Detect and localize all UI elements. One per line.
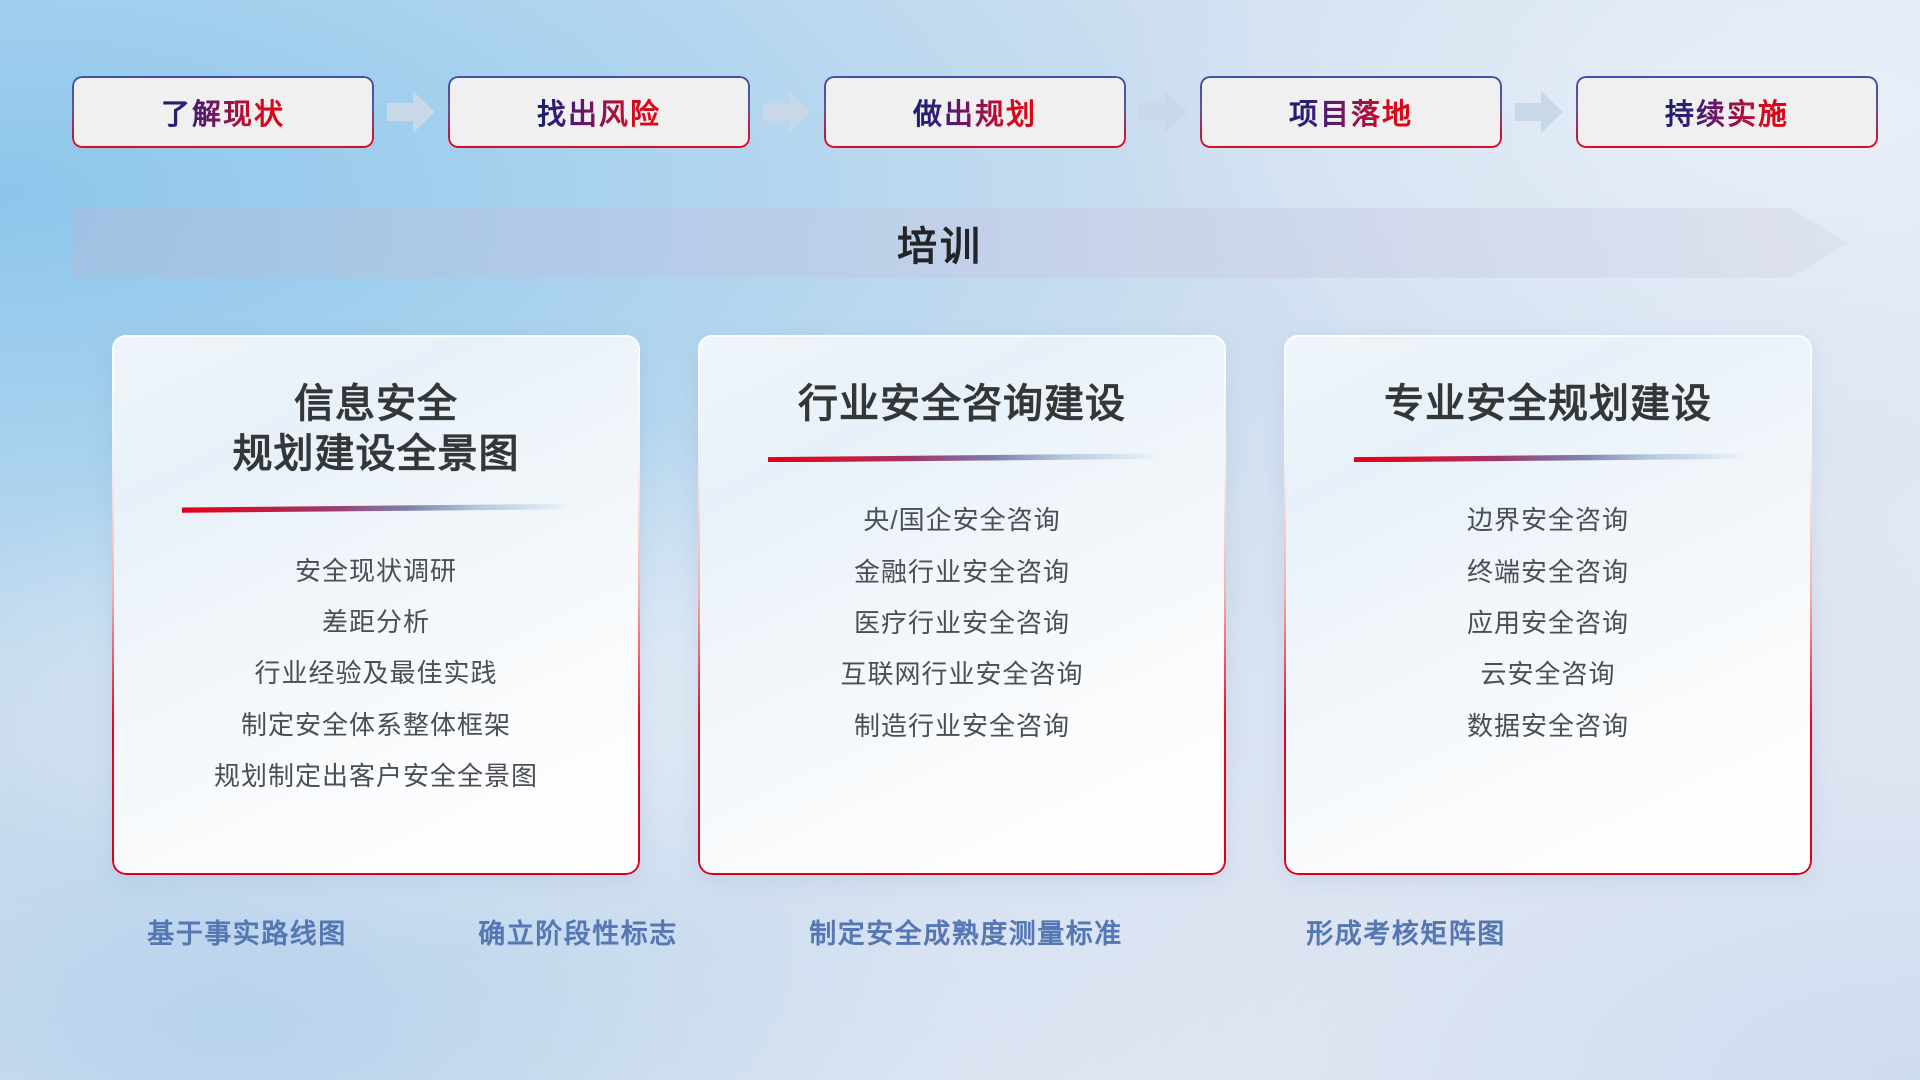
arrow-right-icon: [763, 91, 811, 133]
step-box-5[interactable]: 持续实施: [1576, 76, 1878, 148]
card-divider: [1354, 453, 1742, 462]
list-item: 央/国企安全咨询: [863, 500, 1060, 540]
step-box-1[interactable]: 了解现状: [72, 76, 374, 148]
card-professional-security-planning[interactable]: 专业安全规划建设 边界安全咨询 终端安全咨询 应用安全咨询 云安全咨询 数据安全…: [1284, 335, 1812, 875]
list-item: 行业经验及最佳实践: [254, 653, 497, 693]
step-label-3: 做出规划: [913, 91, 1037, 133]
list-item: 数据安全咨询: [1467, 706, 1629, 746]
footer-labels: 基于事实路线图 确立阶段性标志 制定安全成熟度测量标准 形成考核矩阵图: [0, 912, 1920, 966]
footer-label-2: 确立阶段性标志: [478, 912, 678, 951]
step-label-4: 项目落地: [1289, 91, 1413, 133]
list-item: 终端安全咨询: [1467, 552, 1629, 592]
list-item: 差距分析: [322, 602, 430, 642]
arrow-right-icon: [1515, 91, 1563, 133]
list-item: 金融行业安全咨询: [854, 552, 1070, 592]
training-band: 培训: [72, 208, 1848, 278]
card-industry-security-consulting[interactable]: 行业安全咨询建设 央/国企安全咨询 金融行业安全咨询 医疗行业安全咨询 互联网行…: [698, 335, 1226, 875]
card-divider: [182, 504, 570, 513]
list-item: 应用安全咨询: [1467, 603, 1629, 643]
step-box-2[interactable]: 找出风险: [448, 76, 750, 148]
card-information-security-blueprint[interactable]: 信息安全 规划建设全景图 安全现状调研 差距分析 行业经验及最佳实践 制定安全体…: [112, 335, 640, 875]
list-item: 互联网行业安全咨询: [840, 654, 1083, 694]
list-item: 云安全咨询: [1480, 654, 1615, 694]
list-item: 医疗行业安全咨询: [854, 603, 1070, 643]
list-item: 规划制定出客户安全全景图: [214, 756, 538, 796]
card-title: 专业安全规划建设: [1384, 379, 1712, 429]
list-item: 制定安全体系整体框架: [241, 705, 511, 745]
list-item: 边界安全咨询: [1467, 500, 1629, 540]
card-list: 边界安全咨询 终端安全咨询 应用安全咨询 云安全咨询 数据安全咨询: [1467, 500, 1629, 745]
footer-label-4: 形成考核矩阵图: [1306, 912, 1506, 951]
step-box-3[interactable]: 做出规划: [824, 76, 1126, 148]
card-title: 行业安全咨询建设: [798, 379, 1126, 429]
list-item: 安全现状调研: [295, 551, 457, 591]
card-list: 安全现状调研 差距分析 行业经验及最佳实践 制定安全体系整体框架 规划制定出客户…: [214, 551, 538, 796]
footer-label-1: 基于事实路线图: [147, 912, 347, 951]
card-divider: [768, 453, 1156, 462]
card-title: 信息安全 规划建设全景图: [233, 379, 520, 480]
list-item: 制造行业安全咨询: [854, 706, 1070, 746]
step-label-5: 持续实施: [1665, 91, 1789, 133]
footer-label-3: 制定安全成熟度测量标准: [809, 912, 1123, 951]
step-label-2: 找出风险: [537, 91, 661, 133]
arrow-right-icon: [387, 91, 435, 133]
training-band-title: 培训: [72, 208, 1848, 278]
step-label-1: 了解现状: [161, 91, 285, 133]
cards-row: 信息安全 规划建设全景图 安全现状调研 差距分析 行业经验及最佳实践 制定安全体…: [112, 335, 1812, 875]
process-steps: 了解现状 找出风险 做出规划 项目落地 持续实施: [72, 76, 1848, 148]
card-list: 央/国企安全咨询 金融行业安全咨询 医疗行业安全咨询 互联网行业安全咨询 制造行…: [840, 500, 1083, 745]
arrow-right-icon: [1139, 91, 1187, 133]
step-box-4[interactable]: 项目落地: [1200, 76, 1502, 148]
